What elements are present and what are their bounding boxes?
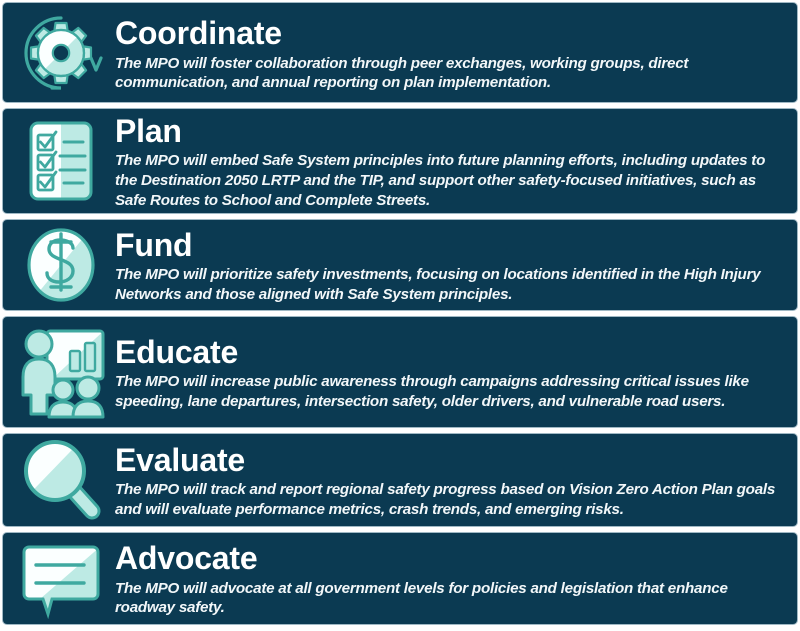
strategy-card-evaluate: Evaluate The MPO will track and report r… — [2, 433, 798, 527]
icon-container — [3, 109, 115, 213]
presentation-audience-icon — [15, 325, 107, 420]
card-text-block: Advocate The MPO will advocate at all go… — [115, 533, 797, 624]
card-title: Evaluate — [115, 443, 779, 478]
card-text-block: Evaluate The MPO will track and report r… — [115, 434, 797, 526]
magnifying-glass-icon — [18, 437, 104, 523]
card-description: The MPO will embed Safe System principle… — [115, 151, 779, 210]
card-text-block: Educate The MPO will increase public awa… — [115, 317, 797, 427]
strategy-card-educate: Educate The MPO will increase public awa… — [2, 316, 798, 428]
card-description: The MPO will foster collaboration throug… — [115, 54, 779, 93]
card-title: Fund — [115, 228, 779, 263]
card-description: The MPO will advocate at all government … — [115, 579, 779, 618]
card-description: The MPO will track and report regional s… — [115, 480, 779, 519]
icon-container — [3, 533, 115, 624]
card-description: The MPO will prioritize safety investmen… — [115, 265, 779, 304]
card-title: Plan — [115, 114, 779, 149]
card-text-block: Fund The MPO will prioritize safety inve… — [115, 220, 797, 310]
checklist-clipboard-icon — [21, 118, 101, 204]
card-text-block: Coordinate The MPO will foster collabora… — [115, 3, 797, 102]
card-title: Coordinate — [115, 16, 779, 51]
card-title: Educate — [115, 335, 779, 370]
dollar-circle-icon — [20, 225, 102, 305]
strategy-card-advocate: Advocate The MPO will advocate at all go… — [2, 532, 798, 625]
card-description: The MPO will increase public awareness t… — [115, 372, 779, 411]
card-text-block: Plan The MPO will embed Safe System prin… — [115, 109, 797, 213]
icon-container — [3, 3, 115, 102]
speech-bubble-icon — [17, 539, 105, 619]
strategy-card-coordinate: Coordinate The MPO will foster collabora… — [2, 2, 798, 103]
icon-container — [3, 317, 115, 427]
gear-refresh-icon — [18, 10, 104, 96]
strategy-card-list: Coordinate The MPO will foster collabora… — [0, 0, 800, 631]
strategy-card-plan: Plan The MPO will embed Safe System prin… — [2, 108, 798, 214]
card-title: Advocate — [115, 541, 779, 576]
icon-container — [3, 434, 115, 526]
icon-container — [3, 220, 115, 310]
strategy-card-fund: Fund The MPO will prioritize safety inve… — [2, 219, 798, 311]
